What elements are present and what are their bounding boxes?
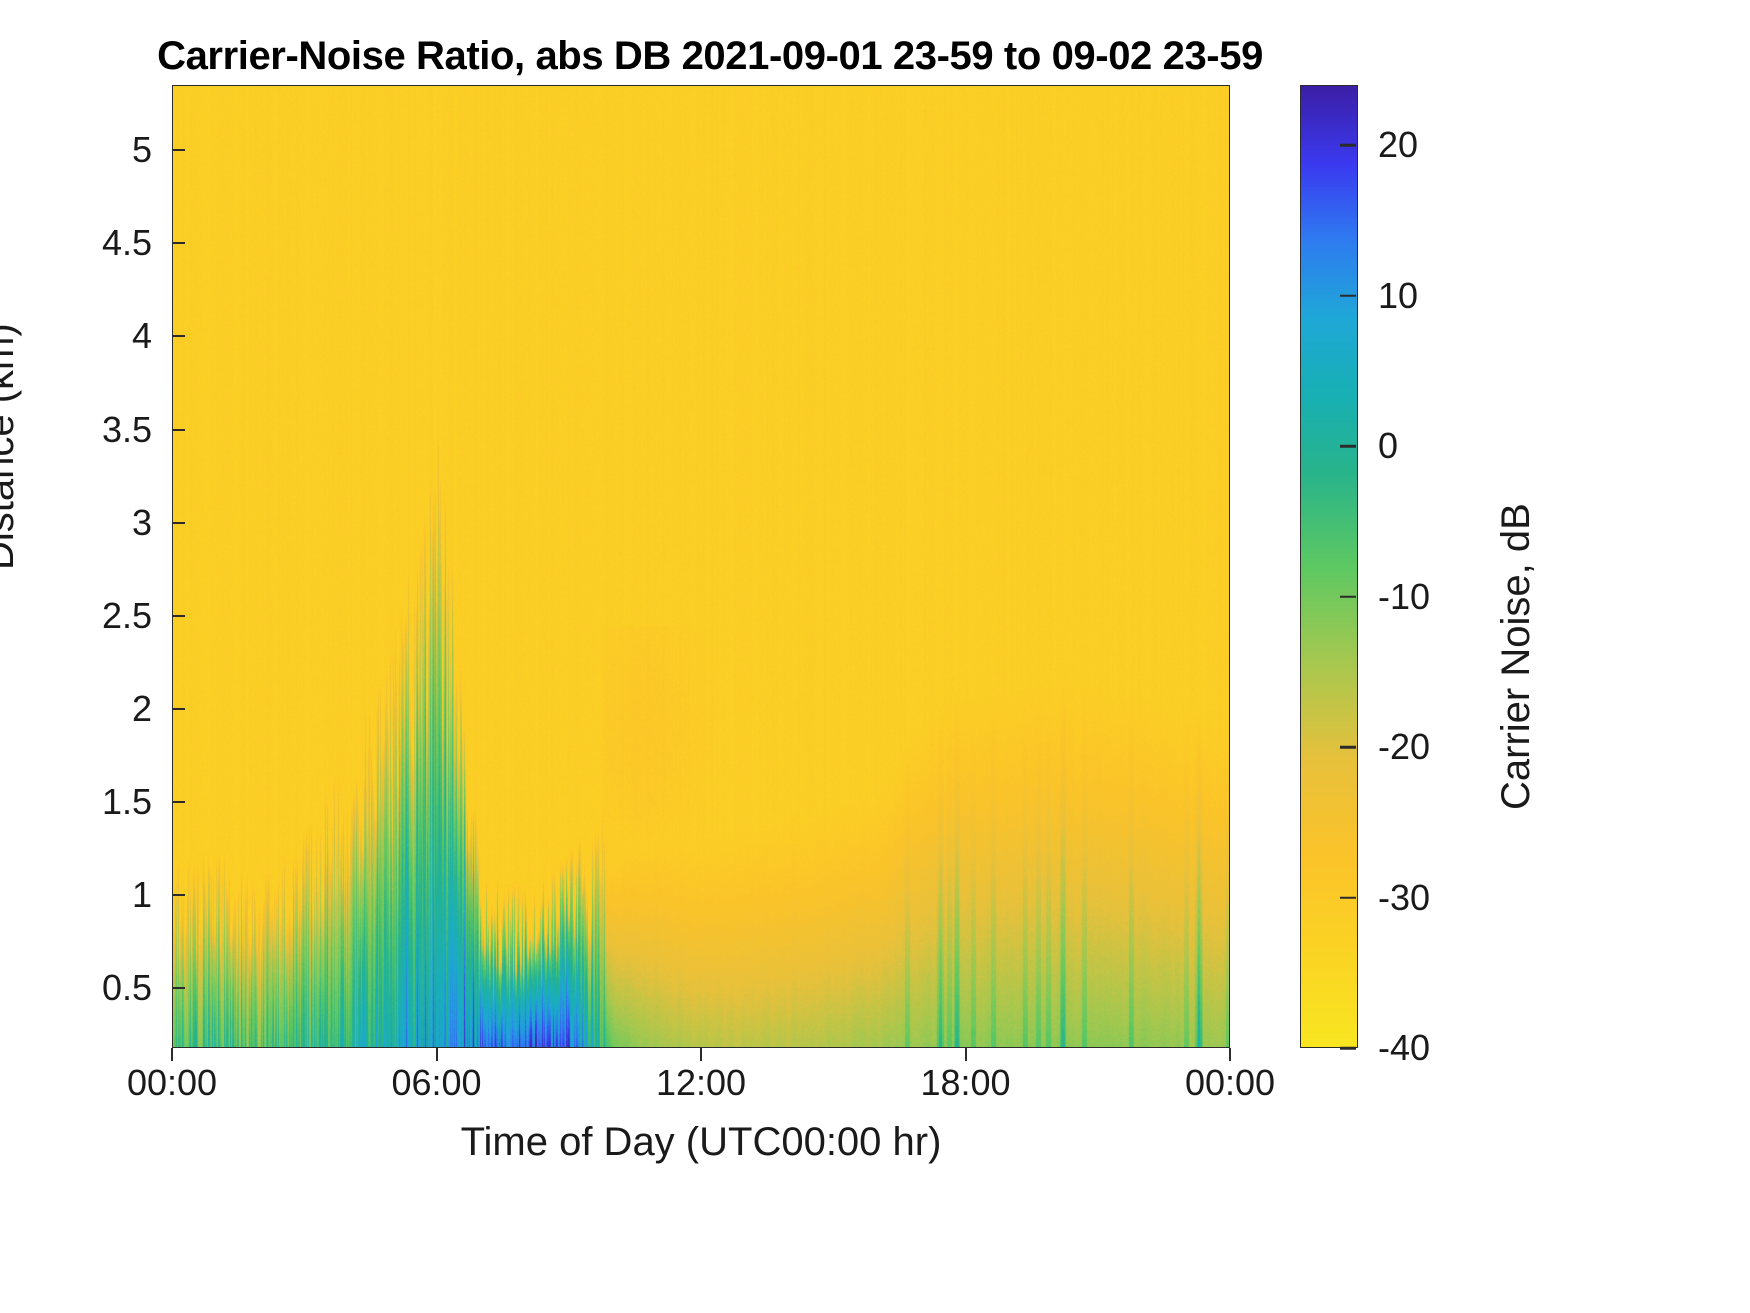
y-tick-mark bbox=[172, 522, 185, 524]
x-tick-label: 12:00 bbox=[656, 1062, 746, 1104]
x-tick-label: 00:00 bbox=[127, 1062, 217, 1104]
x-tick-label: 00:00 bbox=[1185, 1062, 1275, 1104]
y-tick-label: 4 bbox=[30, 315, 152, 357]
colorbar-tick-label: -40 bbox=[1378, 1027, 1430, 1069]
colorbar-tick-mark bbox=[1340, 144, 1356, 147]
heatmap-axes bbox=[172, 85, 1230, 1048]
y-tick-label: 3 bbox=[30, 502, 152, 544]
y-tick-mark bbox=[172, 987, 185, 989]
y-tick-label: 2.5 bbox=[30, 595, 152, 637]
colorbar-tick-mark bbox=[1340, 294, 1356, 297]
y-tick-label: 4.5 bbox=[30, 222, 152, 264]
colorbar-title: Carrier Noise, dB bbox=[1494, 503, 1539, 810]
x-tick-label: 18:00 bbox=[920, 1062, 1010, 1104]
y-tick-mark bbox=[172, 335, 185, 337]
y-tick-mark bbox=[172, 429, 185, 431]
y-tick-label: 0.5 bbox=[30, 967, 152, 1009]
x-tick-mark bbox=[965, 1048, 967, 1061]
colorbar-tick-label: -10 bbox=[1378, 576, 1430, 618]
figure-canvas: Carrier-Noise Ratio, abs DB 2021-09-01 2… bbox=[0, 0, 1750, 1313]
x-tick-mark bbox=[436, 1048, 438, 1061]
colorbar-tick-label: 20 bbox=[1378, 124, 1418, 166]
y-tick-mark bbox=[172, 801, 185, 803]
y-tick-mark bbox=[172, 894, 185, 896]
heatmap-image bbox=[173, 86, 1230, 1048]
colorbar-tick-mark bbox=[1340, 1047, 1356, 1050]
colorbar-tick-mark bbox=[1340, 445, 1356, 448]
y-tick-mark bbox=[172, 708, 185, 710]
page-title: Carrier-Noise Ratio, abs DB 2021-09-01 2… bbox=[0, 34, 1420, 79]
y-tick-label: 1.5 bbox=[30, 781, 152, 823]
y-tick-label: 3.5 bbox=[30, 409, 152, 451]
colorbar-tick-mark bbox=[1340, 896, 1356, 899]
y-tick-label: 1 bbox=[30, 874, 152, 916]
y-tick-mark bbox=[172, 242, 185, 244]
x-tick-label: 06:00 bbox=[391, 1062, 481, 1104]
colorbar-tick-label: 0 bbox=[1378, 425, 1398, 467]
colorbar-tick-mark bbox=[1340, 595, 1356, 598]
colorbar-gradient bbox=[1301, 86, 1358, 1048]
y-tick-mark bbox=[172, 615, 185, 617]
y-tick-label: 5 bbox=[30, 129, 152, 171]
x-tick-mark bbox=[171, 1048, 173, 1061]
x-tick-mark bbox=[700, 1048, 702, 1061]
x-axis-title: Time of Day (UTC00:00 hr) bbox=[172, 1120, 1230, 1165]
colorbar-tick-label: 10 bbox=[1378, 275, 1418, 317]
y-tick-label: 2 bbox=[30, 688, 152, 730]
y-axis-title: Distance (km) bbox=[0, 323, 23, 570]
x-tick-mark bbox=[1229, 1048, 1231, 1061]
y-tick-mark bbox=[172, 149, 185, 151]
colorbar-tick-mark bbox=[1340, 746, 1356, 749]
colorbar-tick-label: -20 bbox=[1378, 726, 1430, 768]
colorbar-tick-label: -30 bbox=[1378, 877, 1430, 919]
colorbar bbox=[1300, 85, 1358, 1048]
